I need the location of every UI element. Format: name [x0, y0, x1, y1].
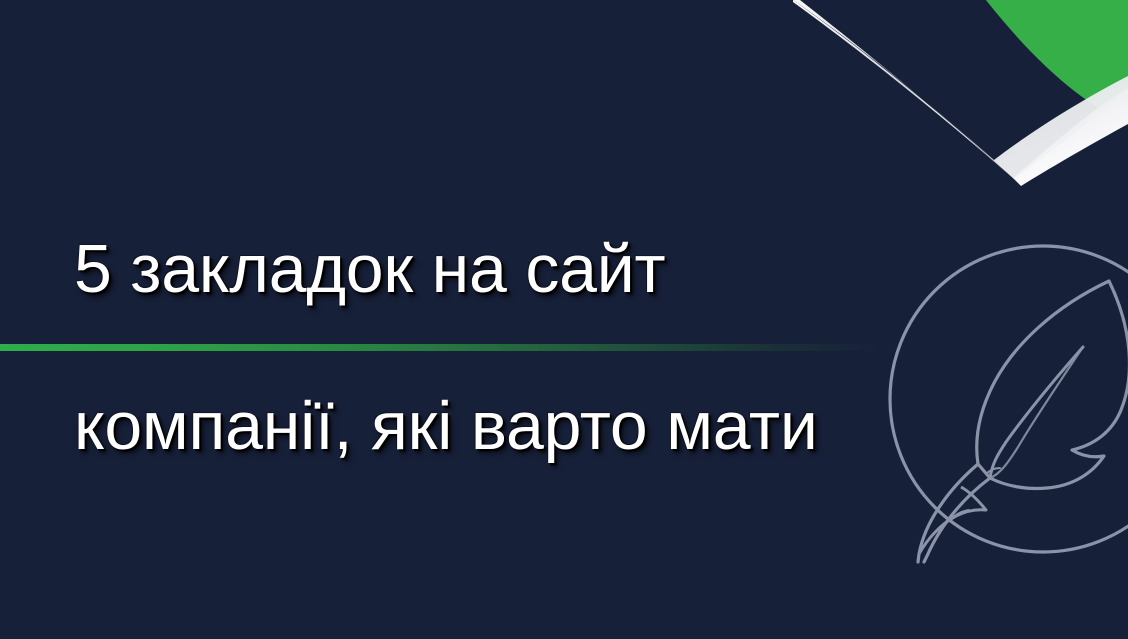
slide-canvas: 5 закладок на сайт компанії, які варто м… — [0, 0, 1128, 639]
page-title: 5 закладок на сайт компанії, які варто м… — [74, 152, 904, 543]
page-title-line-2: компанії, які варто мати — [74, 387, 904, 465]
page-title-line-1: 5 закладок на сайт — [74, 230, 904, 308]
quill-feather-in-circle-icon — [886, 242, 1128, 556]
